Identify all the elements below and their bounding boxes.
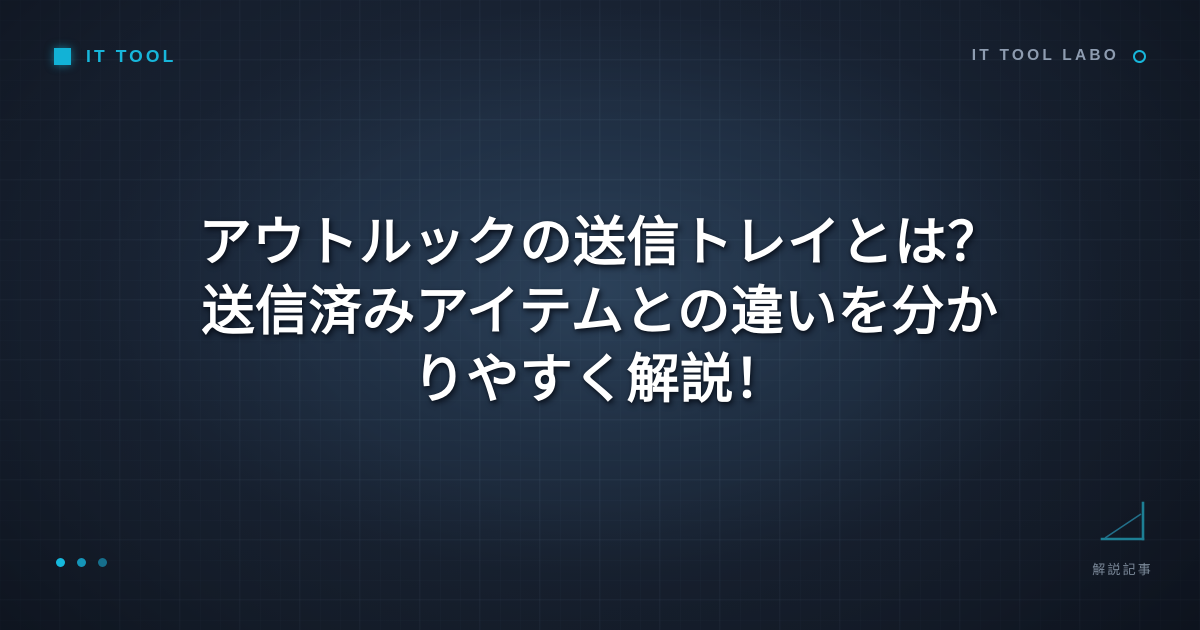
decorative-dots <box>56 558 107 567</box>
article-type-label: 解説記事 <box>1092 559 1153 578</box>
page-title: アウトルックの送信トレイとは？送信済みアイテムとの違いを分かりやすく解説！ <box>180 209 1020 416</box>
dot-indicator-1 <box>56 558 65 567</box>
article-type-badge: 解説記事 <box>1092 498 1153 578</box>
dot-indicator-3 <box>98 558 107 567</box>
og-image-canvas: IT TOOL IT TOOL LABO アウトルックの送信トレイとは？送信済み… <box>0 0 1200 630</box>
dot-indicator-2 <box>77 558 86 567</box>
title-container: アウトルックの送信トレイとは？送信済みアイテムとの違いを分かりやすく解説！ <box>0 0 1200 630</box>
growth-triangle-icon <box>1095 498 1150 546</box>
